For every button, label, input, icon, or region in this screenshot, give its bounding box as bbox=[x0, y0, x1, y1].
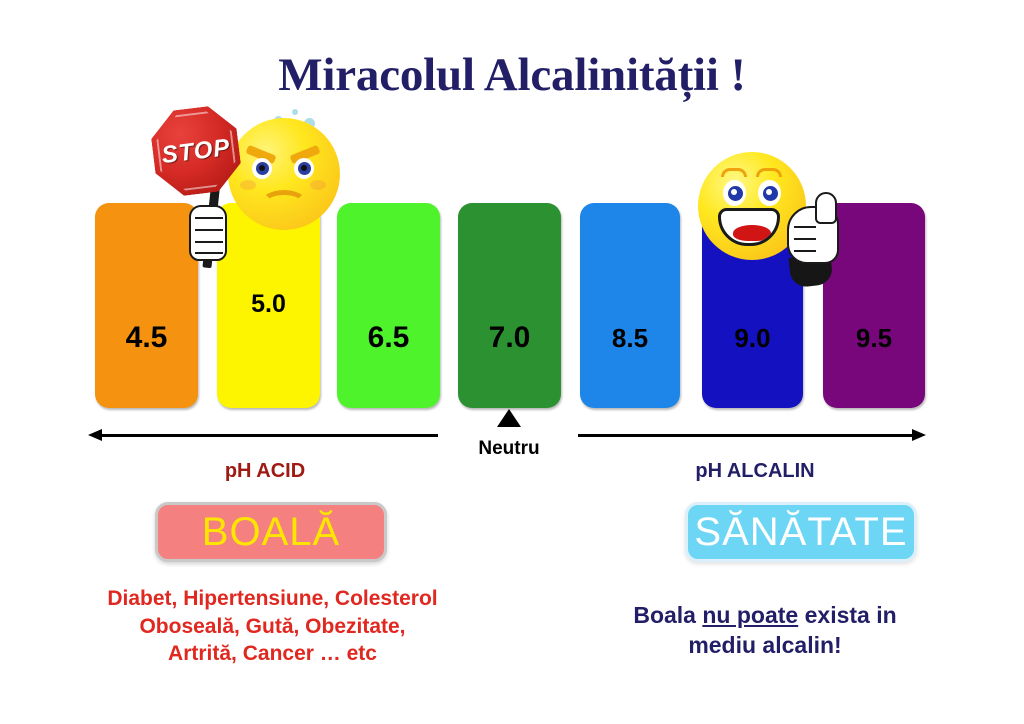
disease-list-line-2: Oboseală, Gută, Obezitate, bbox=[60, 613, 485, 641]
ph-bar-6-5: 6.5 bbox=[337, 203, 440, 408]
ph-bar-value-9-5: 9.5 bbox=[823, 323, 925, 354]
happy-brow-right bbox=[756, 168, 782, 177]
ph-bar-value-7-0: 7.0 bbox=[458, 321, 561, 355]
ph-bar-value-6-5: 6.5 bbox=[337, 321, 440, 355]
ph-bar-value-9-0: 9.0 bbox=[702, 323, 803, 354]
health-badge-label: SĂNĂTATE bbox=[694, 510, 907, 555]
neutral-triangle-icon bbox=[497, 409, 521, 427]
health-note-emphasis: nu poate bbox=[702, 602, 798, 628]
disease-badge: BOALĂ bbox=[155, 502, 387, 562]
acid-arrow-shaft bbox=[98, 434, 438, 437]
alkaline-direction-arrow-icon bbox=[578, 428, 926, 442]
disease-list-line-1: Diabet, Hipertensiune, Colesterol bbox=[60, 585, 485, 613]
happy-eye-left bbox=[723, 180, 746, 206]
health-note-suffix: exista in bbox=[798, 602, 896, 628]
happy-brow-left bbox=[721, 168, 747, 177]
angry-frown-mouth bbox=[261, 190, 307, 216]
ph-bar-7-0: 7.0 bbox=[458, 203, 561, 408]
alkaline-arrow-head-icon bbox=[912, 429, 926, 441]
disease-list-line-3: Artrită, Cancer … etc bbox=[60, 640, 485, 668]
happy-eye-right bbox=[758, 180, 781, 206]
angry-cheek-right bbox=[310, 180, 326, 190]
neutral-label: Neutru bbox=[449, 438, 569, 460]
angry-eye-left bbox=[252, 158, 272, 179]
health-note: Boala nu poate exista in mediu alcalin! bbox=[560, 600, 970, 661]
disease-list: Diabet, Hipertensiune, Colesterol Obosea… bbox=[60, 585, 485, 668]
ph-bar-8-5: 8.5 bbox=[580, 203, 680, 408]
disease-badge-label: BOALĂ bbox=[202, 510, 340, 555]
ph-bar-value-4-5: 4.5 bbox=[95, 321, 198, 355]
ph-bar-value-5-0: 5.0 bbox=[217, 290, 320, 319]
gloved-hand-holding-sign-icon bbox=[189, 205, 227, 261]
thumbs-up-icon bbox=[787, 206, 839, 264]
angry-face-icon bbox=[228, 118, 340, 230]
ph-bar-5-0: 5.0 bbox=[217, 203, 320, 408]
stop-sign-icon: STOP bbox=[148, 103, 244, 199]
ph-bar-value-8-5: 8.5 bbox=[580, 323, 680, 354]
alkaline-arrow-shaft bbox=[578, 434, 916, 437]
page-title: Miracolul Alcalinității ! bbox=[0, 48, 1024, 102]
alkaline-caption: pH ALCALIN bbox=[630, 460, 880, 483]
ph-bar-4-5: 4.5 bbox=[95, 203, 198, 408]
angry-eye-right bbox=[294, 158, 314, 179]
health-badge: SĂNĂTATE bbox=[685, 502, 917, 562]
acid-direction-arrow-icon bbox=[88, 428, 438, 442]
infographic-canvas: Miracolul Alcalinității ! 4.5 5.0 6.5 7.… bbox=[0, 0, 1024, 724]
thumbs-up-thumb bbox=[815, 192, 837, 224]
health-note-line-2: mediu alcalin! bbox=[560, 630, 970, 660]
health-note-line-1: Boala nu poate exista in bbox=[560, 600, 970, 630]
health-note-prefix: Boala bbox=[633, 602, 702, 628]
acid-caption: pH ACID bbox=[140, 460, 390, 483]
